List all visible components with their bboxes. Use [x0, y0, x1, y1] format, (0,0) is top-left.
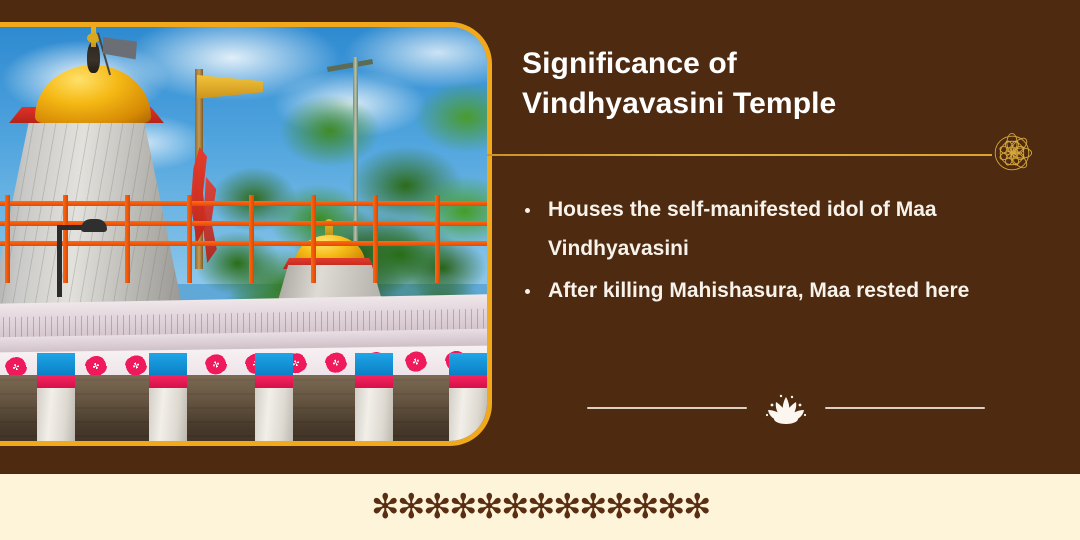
roof-lotus-motif	[205, 354, 227, 374]
bullet-list: Houses the self-manifested idol of Maa V…	[522, 190, 1022, 312]
dark-flag	[97, 33, 149, 77]
temple-pillar	[255, 375, 293, 441]
roof-lotus-motif	[85, 356, 107, 376]
temple-photo	[0, 27, 487, 441]
flower-glyph-icon: ✻	[579, 490, 605, 524]
flower-glyph-icon: ✻	[501, 490, 527, 524]
temple-photo-frame	[0, 22, 492, 446]
flower-glyph-icon: ✻	[553, 490, 579, 524]
temple-pillar	[37, 375, 75, 441]
temple-pillar	[355, 375, 393, 441]
roof-lotus-motif	[405, 351, 427, 371]
title-line-2: Vindhyavasini Temple	[522, 84, 1042, 124]
list-item: After killing Mahishasura, Maa rested he…	[522, 271, 1022, 310]
street-lamp-icon	[81, 219, 107, 232]
temple-pillar	[149, 375, 187, 441]
mandala-rosette-icon	[984, 125, 1040, 181]
footer-band: ✻✻✻✻✻✻✻✻✻✻✻✻✻	[0, 474, 1080, 540]
flower-glyph-icon: ✻	[397, 490, 423, 524]
page-title: Significance of Vindhyavasini Temple	[522, 44, 1042, 124]
flower-ornament-strip: ✻✻✻✻✻✻✻✻✻✻✻✻✻	[371, 490, 709, 524]
flower-glyph-icon: ✻	[423, 490, 449, 524]
divider-line-left	[587, 407, 747, 409]
flower-glyph-icon: ✻	[475, 490, 501, 524]
flower-glyph-icon: ✻	[605, 490, 631, 524]
flower-glyph-icon: ✻	[527, 490, 553, 524]
roof-lotus-motif	[325, 353, 347, 373]
dark-flag-cloth	[103, 37, 137, 63]
slide-root: Significance of Vindhyavasini Temple	[0, 0, 1080, 540]
flower-glyph-icon: ✻	[683, 490, 709, 524]
flower-glyph-icon: ✻	[631, 490, 657, 524]
flower-glyph-icon: ✻	[371, 490, 397, 524]
flower-glyph-icon: ✻	[657, 490, 683, 524]
lotus-flower-icon	[763, 391, 809, 425]
roof-lotus-motif	[125, 355, 147, 375]
flower-glyph-icon: ✻	[449, 490, 475, 524]
list-item: Houses the self-manifested idol of Maa V…	[522, 190, 1022, 269]
lamp-pole	[57, 225, 62, 297]
divider-line-right	[825, 407, 985, 409]
temple-pillar	[449, 375, 487, 441]
orange-railing	[0, 195, 487, 287]
divider-line	[487, 154, 992, 156]
title-line-1: Significance of	[522, 44, 1042, 84]
lotus-divider	[587, 390, 985, 426]
text-panel: Significance of Vindhyavasini Temple	[522, 44, 1042, 124]
